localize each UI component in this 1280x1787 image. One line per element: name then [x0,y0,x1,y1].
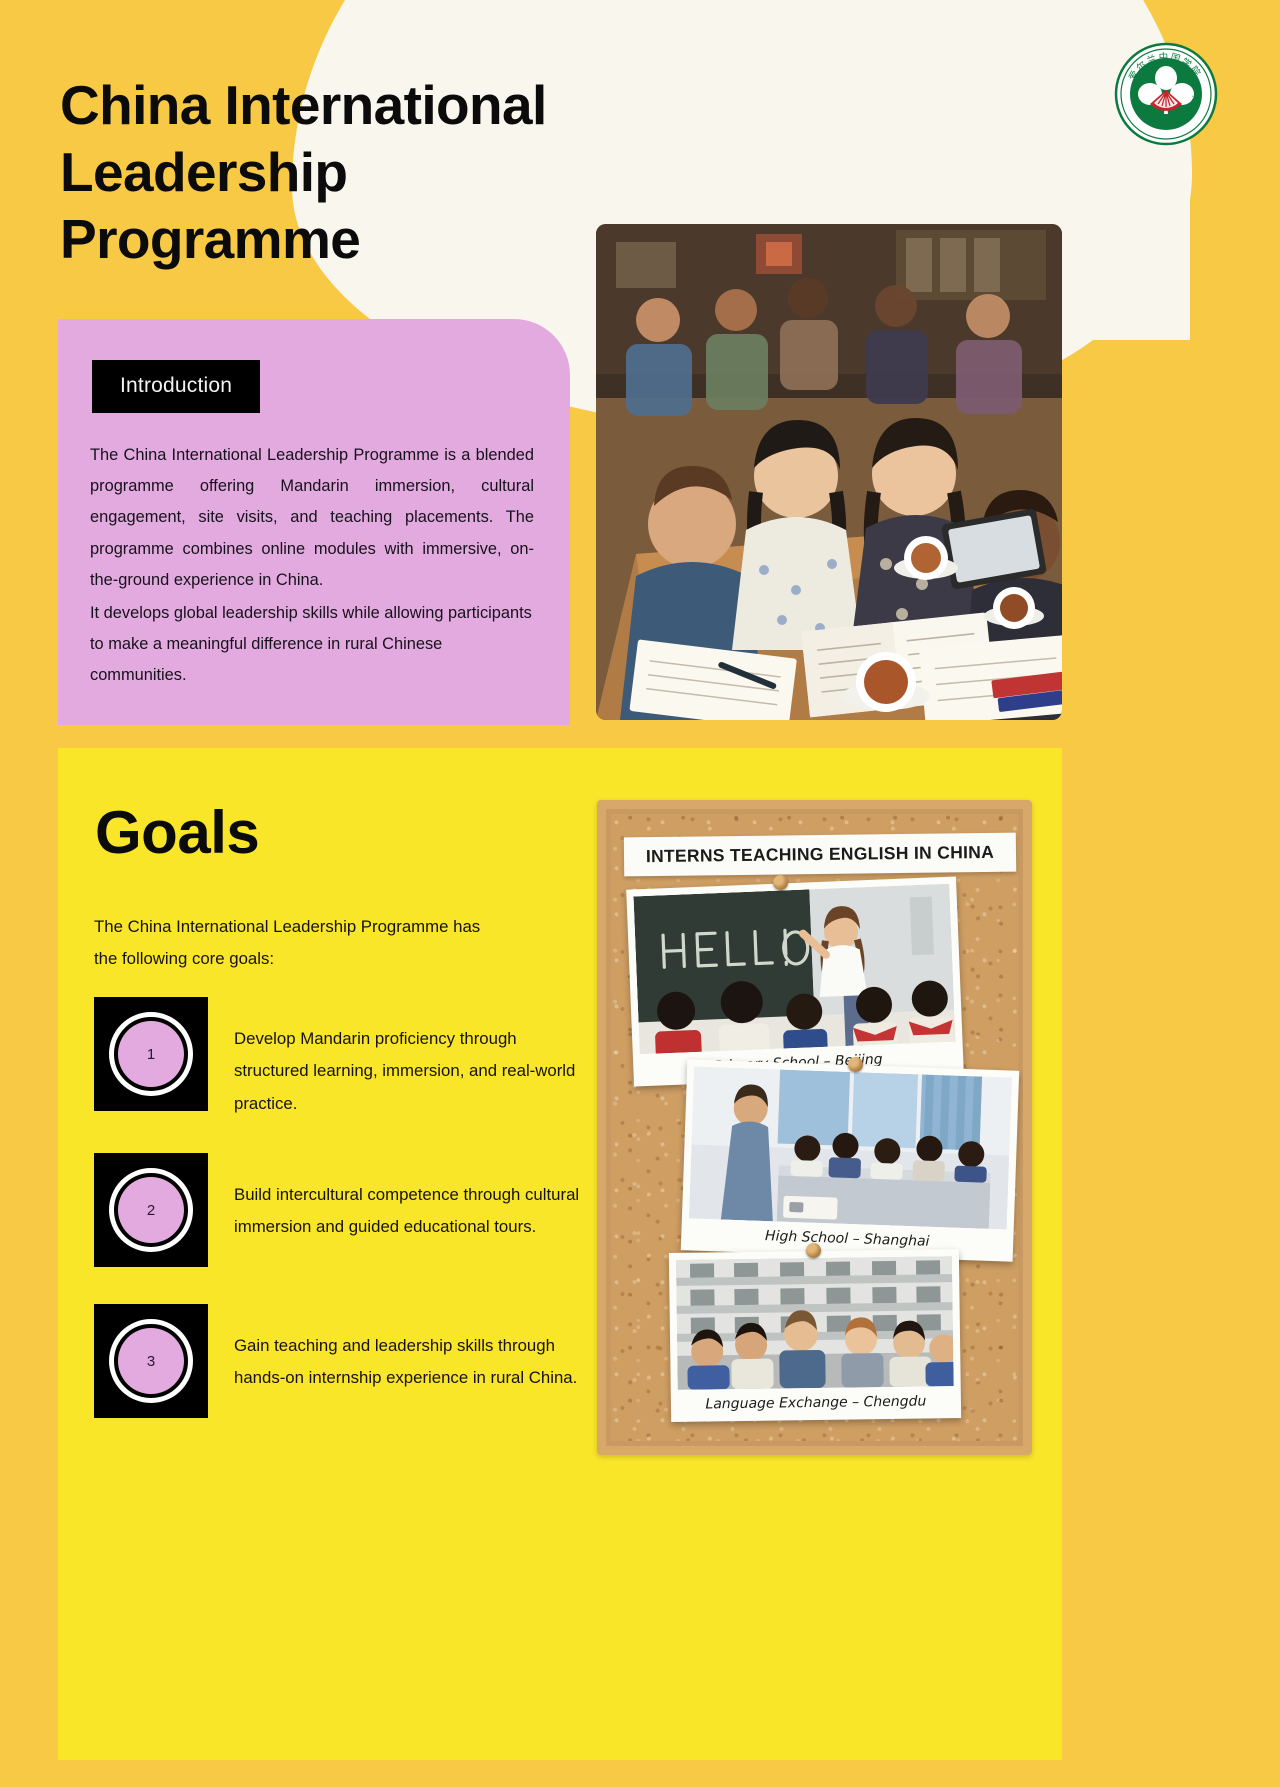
corkboard: INTERNS TEACHING ENGLISH IN CHINA [597,800,1032,1455]
goal-marker-1: 1 [94,997,208,1111]
pin-icon-3 [806,1243,821,1258]
goal-text-2: Build intercultural competence through c… [234,1153,594,1244]
goal-item-2: 2 Build intercultural competence through… [94,1153,594,1267]
poster-page: China International Leadership Programme… [0,0,1280,1787]
photo-primary-school-beijing [633,884,955,1055]
photo-caption-3: Language Exchange – Chengdu [678,1386,954,1422]
introduction-card: Introduction The China International Lea… [58,319,570,725]
goal-marker-3: 3 [94,1304,208,1418]
corkboard-header-label: INTERNS TEACHING ENGLISH IN CHINA [624,833,1016,877]
goals-title: Goals [95,798,259,867]
goal-marker-2: 2 [94,1153,208,1267]
goal-number-3: 3 [118,1328,184,1394]
polaroid-photo-2: High School – Shanghai [681,1059,1019,1261]
photo-language-exchange-chengdu [676,1256,954,1390]
polaroid-photo-3: Language Exchange – Chengdu [669,1249,961,1422]
introduction-paragraph-2: It develops global leadership skills whi… [90,598,538,692]
pin-icon-2 [848,1057,863,1072]
introduction-paragraph-1: The China International Leadership Progr… [90,440,538,596]
ireland-sino-institute-logo: 爱尔兰中国学院 The Ireland Sino Institute [1114,42,1218,146]
goal-number-2: 2 [118,1177,184,1243]
goal-item-1: 1 Develop Mandarin proficiency through s… [94,997,594,1120]
goal-item-3: 3 Gain teaching and leadership skills th… [94,1304,594,1418]
goal-ring-2: 2 [109,1168,193,1252]
goal-number-1: 1 [118,1021,184,1087]
goal-ring-3: 3 [109,1319,193,1403]
photo-high-school-shanghai [689,1067,1012,1230]
goal-ring-1: 1 [109,1012,193,1096]
goal-text-3: Gain teaching and leadership skills thro… [234,1304,594,1395]
page-title: China International Leadership Programme [60,72,660,273]
pin-icon-1 [773,875,788,890]
cafe-study-photo [596,224,1062,720]
goals-lead-text: The China International Leadership Progr… [94,911,494,976]
introduction-badge: Introduction [92,360,260,413]
goal-text-1: Develop Mandarin proficiency through str… [234,997,594,1120]
polaroid-photo-1: Primary School – Beijing [626,876,964,1086]
